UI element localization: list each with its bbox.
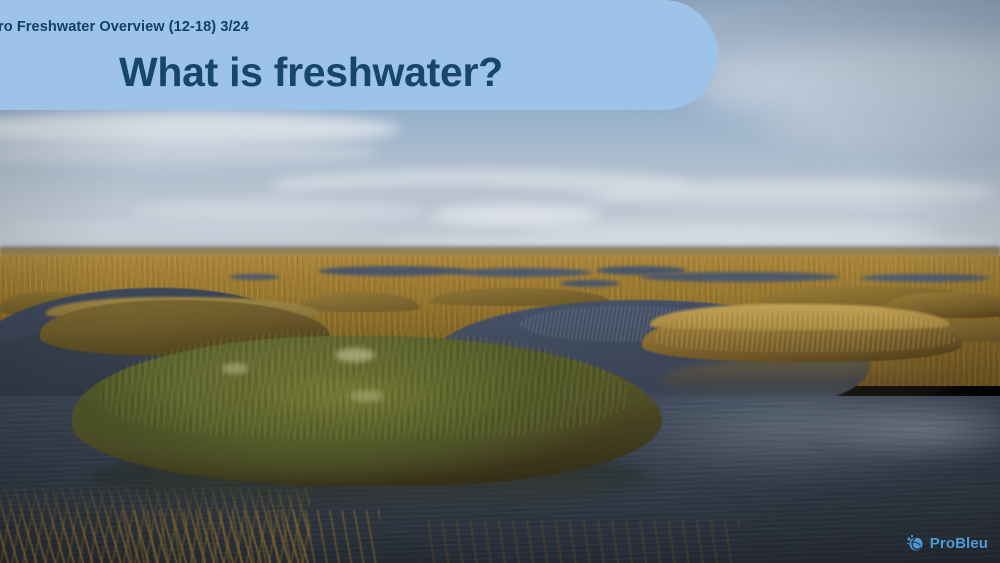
- distant-pool: [560, 280, 620, 287]
- distant-pool: [860, 274, 990, 282]
- breadcrumb: Intro Freshwater Overview (12-18) 3/24: [0, 19, 249, 35]
- distant-pool: [318, 266, 468, 276]
- lenticular-cloud: [0, 222, 360, 238]
- lichen-patch: [222, 363, 248, 374]
- lichen-patch: [350, 390, 384, 402]
- distant-pool: [640, 272, 840, 282]
- pro-bleu-logo[interactable]: ProBleu: [905, 533, 988, 553]
- page-title: What is freshwater?: [119, 49, 503, 96]
- island-right-reflection: [660, 358, 960, 402]
- lenticular-cloud: [430, 204, 600, 226]
- foreground-reeds-centre: [420, 520, 740, 563]
- cloud-wisp: [760, 110, 1000, 150]
- lenticular-cloud: [130, 200, 430, 222]
- distant-pool: [230, 274, 280, 280]
- pro-bleu-globe-icon: [905, 533, 925, 553]
- lenticular-cloud: [0, 140, 380, 166]
- lenticular-cloud: [640, 196, 980, 216]
- foreground-reeds-left: [120, 510, 380, 563]
- slide-canvas: Intro Freshwater Overview (12-18) 3/24 W…: [0, 0, 1000, 563]
- distant-pool: [452, 268, 592, 277]
- pro-bleu-logo-text: ProBleu: [930, 535, 988, 552]
- lichen-patch: [335, 348, 375, 362]
